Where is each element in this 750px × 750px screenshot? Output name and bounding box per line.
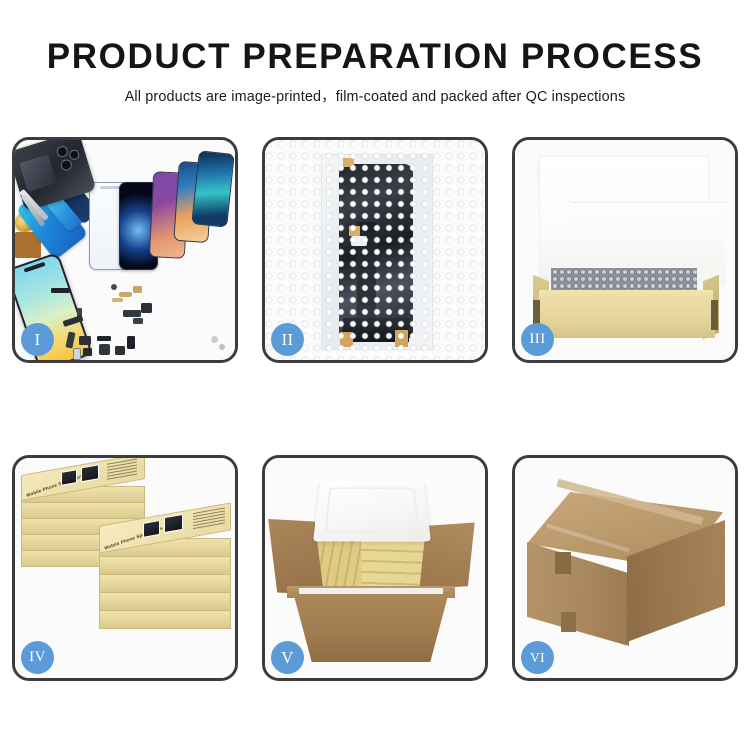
process-steps-grid: I II xyxy=(12,137,738,693)
spare-part xyxy=(211,336,218,343)
spare-part xyxy=(119,292,132,297)
styrofoam-lid xyxy=(313,481,431,542)
box-corner-shadow xyxy=(711,300,718,330)
box-spec-lines xyxy=(193,507,225,531)
spare-part xyxy=(97,336,111,341)
spare-part xyxy=(133,318,143,324)
box-window xyxy=(81,464,99,482)
kraft-box-layer xyxy=(99,610,231,629)
phone-screen-teal xyxy=(191,150,235,227)
step-panel-ii[interactable]: II xyxy=(262,137,488,363)
step-badge-ii: II xyxy=(271,323,304,356)
carton-tape-tab xyxy=(561,612,576,632)
kraft-box-front xyxy=(537,300,715,338)
kraft-box-layer xyxy=(99,574,231,593)
kraft-box-layer xyxy=(99,592,231,611)
page-title: PRODUCT PREPARATION PROCESS xyxy=(0,38,750,76)
spare-part xyxy=(79,336,91,345)
spare-part xyxy=(73,348,81,360)
step-panel-iv[interactable]: Mobile Phone Spare Parts Mobile Phone Sp… xyxy=(12,455,238,681)
camera-lens-icon xyxy=(60,158,74,172)
camera-lens-icon xyxy=(68,149,80,161)
carton-rim-inner xyxy=(299,588,443,594)
header: PRODUCT PREPARATION PROCESS All products… xyxy=(0,0,750,106)
spare-part xyxy=(111,284,117,290)
carton-body xyxy=(293,592,449,662)
spare-part xyxy=(115,346,125,355)
spare-part xyxy=(133,286,142,293)
step-badge-i: I xyxy=(21,323,54,356)
spare-part xyxy=(141,303,152,313)
box-window xyxy=(61,469,77,486)
box-window xyxy=(143,520,160,538)
spare-part xyxy=(83,348,92,356)
foam-lid xyxy=(539,156,709,284)
step-badge-vi: VI xyxy=(521,641,554,674)
step-panel-i[interactable]: I xyxy=(12,137,238,363)
camera-lens-icon xyxy=(55,145,69,159)
logic-board xyxy=(19,154,56,191)
spare-part xyxy=(51,288,70,293)
step-panel-iii[interactable]: III xyxy=(512,137,738,363)
page-subtitle: All products are image-printed，film-coat… xyxy=(0,85,750,106)
spare-part xyxy=(123,310,141,317)
kraft-box-layer xyxy=(21,502,145,519)
step-badge-iii: III xyxy=(521,323,554,356)
spare-part xyxy=(219,344,225,350)
carton-tape-tab xyxy=(555,552,571,574)
kraft-box-layer xyxy=(99,556,231,575)
step-badge-iv: IV xyxy=(21,641,54,674)
box-window xyxy=(164,514,183,533)
spare-part xyxy=(99,344,110,355)
spare-part xyxy=(127,336,135,349)
step-panel-v[interactable]: V xyxy=(262,455,488,681)
spare-part xyxy=(112,298,123,302)
box-spec-lines xyxy=(107,458,137,481)
step-badge-v: V xyxy=(271,641,304,674)
step-panel-vi[interactable]: VI xyxy=(512,455,738,681)
